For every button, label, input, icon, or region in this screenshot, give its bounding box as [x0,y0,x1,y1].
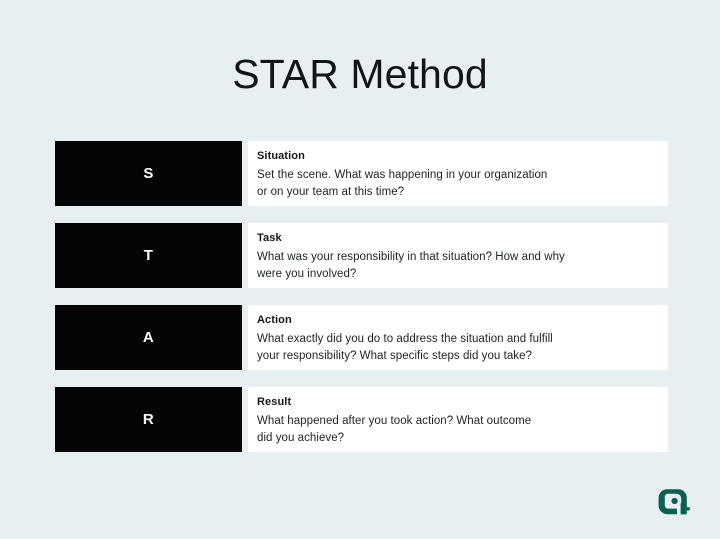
row-heading: Task [257,232,654,246]
list-item: S Situation Set the scene. What was happ… [55,141,668,206]
slide-canvas: STAR Method S Situation Set the scene. W… [0,0,720,539]
row-body-text: Set the scene. What was happening in you… [257,167,654,202]
letter-badge-r: R [55,387,242,452]
brand-logo-icon [655,483,693,521]
page-title: STAR Method [0,52,720,97]
letter-badge-label: T [144,248,153,263]
letter-badge-s: S [55,141,242,206]
row-heading: Result [257,396,654,410]
list-item: R Result What happened after you took ac… [55,387,668,452]
list-item: A Action What exactly did you do to addr… [55,305,668,370]
row-text-panel: Result What happened after you took acti… [248,387,668,452]
row-body-text: What exactly did you do to address the s… [257,331,654,366]
letter-badge-label: A [143,330,154,345]
row-text-panel: Situation Set the scene. What was happen… [248,141,668,206]
row-body-text: What was your responsibility in that sit… [257,249,654,284]
row-body-text: What happened after you took action? Wha… [257,413,654,448]
letter-badge-label: R [143,412,154,427]
list-item: T Task What was your responsibility in t… [55,223,668,288]
letter-badge-a: A [55,305,242,370]
letter-badge-label: S [143,166,153,181]
row-heading: Situation [257,150,654,164]
star-rows-list: S Situation Set the scene. What was happ… [55,141,668,452]
letter-badge-t: T [55,223,242,288]
row-heading: Action [257,314,654,328]
row-text-panel: Action What exactly did you do to addres… [248,305,668,370]
row-text-panel: Task What was your responsibility in tha… [248,223,668,288]
